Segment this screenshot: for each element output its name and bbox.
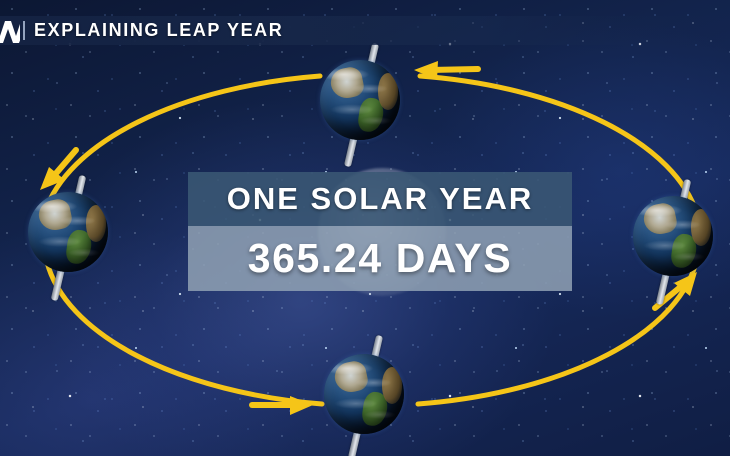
caption-box: ONE SOLAR YEAR 365.24 DAYS — [188, 172, 572, 291]
earth-globe-top — [320, 60, 400, 140]
caption-bottom-band: 365.24 DAYS — [188, 226, 572, 291]
earth-bottom — [302, 336, 432, 456]
caption-value: 365.24 DAYS — [248, 235, 513, 282]
earth-top — [300, 48, 430, 168]
earth-globe-left — [28, 192, 108, 272]
caption-top-band: ONE SOLAR YEAR — [188, 172, 572, 226]
header-divider — [23, 21, 25, 40]
leap-year-graphic: ONE SOLAR YEAR 365.24 DAYS EXPLAINING LE… — [0, 0, 730, 456]
earth-globe-right — [633, 196, 713, 276]
caption-title: ONE SOLAR YEAR — [227, 181, 533, 217]
earth-globe-bottom — [324, 354, 404, 434]
page-title: EXPLAINING LEAP YEAR — [34, 20, 283, 41]
weathernation-w-logo-icon[interactable] — [0, 16, 20, 45]
earth-right — [608, 182, 730, 304]
earth-left — [20, 178, 150, 300]
header-bar: EXPLAINING LEAP YEAR — [0, 16, 730, 45]
